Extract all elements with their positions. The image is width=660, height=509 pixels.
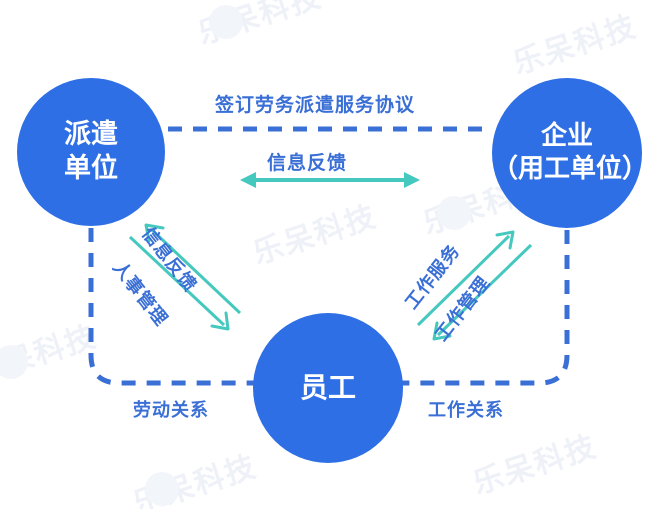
bottom-right-dashed-connector bbox=[400, 230, 567, 383]
node-employee[interactable]: 员工 bbox=[253, 313, 403, 463]
node-enterprise[interactable]: 企业 （用工单位） bbox=[492, 78, 642, 228]
node-dispatch-line2: 单位 bbox=[64, 152, 118, 186]
node-employee-line1: 员工 bbox=[300, 370, 356, 405]
node-enterprise-line2: （用工单位） bbox=[492, 153, 642, 186]
diagram-canvas: 乐呆科技 乐呆科技 乐呆科技 乐呆科技 乐呆科技 乐呆科技 乐呆科技 bbox=[0, 0, 660, 509]
node-dispatch-unit[interactable]: 派遣 单位 bbox=[17, 78, 165, 226]
label-service-agreement: 签订劳务派遣服务协议 bbox=[215, 90, 415, 117]
node-dispatch-line1: 派遣 bbox=[64, 118, 118, 152]
label-information-feedback-top: 信息反馈 bbox=[267, 148, 347, 175]
node-enterprise-line1: 企业 bbox=[541, 120, 593, 153]
label-work-relationship: 工作关系 bbox=[428, 396, 504, 422]
label-labor-relationship: 劳动关系 bbox=[133, 396, 209, 422]
